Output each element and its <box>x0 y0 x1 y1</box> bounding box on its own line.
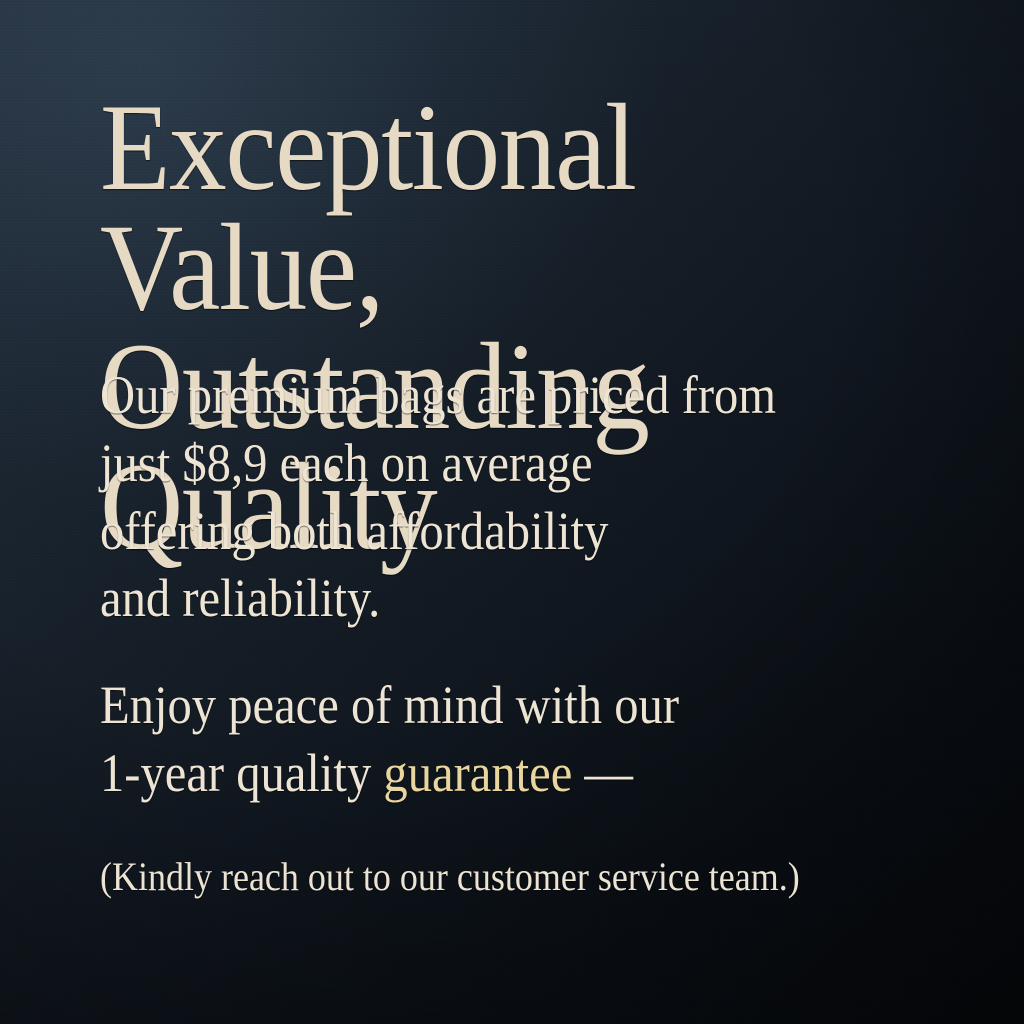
promise-paragraph: Enjoy peace of mind with our 1-year qual… <box>100 672 892 808</box>
promise-line-1: Enjoy peace of mind with our <box>100 675 679 735</box>
promo-poster: Exceptional Value, Outstanding Quality O… <box>0 0 1024 1024</box>
promise-line-2-prefix: 1-year quality <box>100 743 383 803</box>
pricing-paragraph: Our premium bags are priced from just $8… <box>100 362 892 633</box>
guarantee-highlight: guarantee <box>383 743 572 803</box>
promise-line-2-suffix: — <box>572 743 633 803</box>
footnote: (Kindly reach out to our customer servic… <box>100 852 892 902</box>
content-column: Exceptional Value, Outstanding Quality O… <box>100 0 1000 1024</box>
